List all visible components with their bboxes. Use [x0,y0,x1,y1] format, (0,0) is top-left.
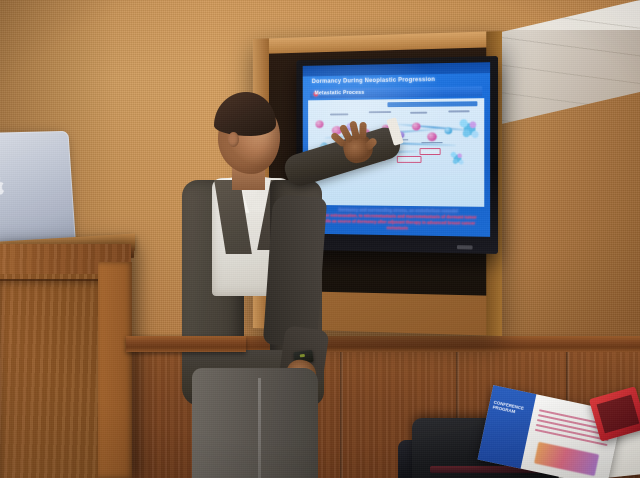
tv-brand-logo [457,245,473,249]
diagram-cell-cluster [456,116,483,143]
diagram-cell [427,132,437,141]
diagram-mini-label [410,112,427,114]
hair [214,92,276,136]
apple-logo-icon [0,176,8,197]
finger [359,122,367,139]
chair-rail-left [126,336,246,352]
diagram-label-box [397,156,422,163]
slide-footer-line-3: cells as source of dormancy after adjuva… [315,218,482,232]
podium-front-panel [0,274,107,478]
slide-footer-text: Dormancy and surrounding stroma, an endo… [315,207,482,233]
upper-arm [263,194,327,347]
diagram-header-bar [387,101,476,107]
diagram-mini-label [448,110,469,112]
diagram-cell [412,123,421,131]
trouser-crease [258,378,261,478]
diagram-cell-cluster [448,150,466,168]
podium-side-stile [98,262,132,478]
diagram-cell [444,127,452,134]
ear [228,132,239,147]
slide-title: Dormancy During Neoplastic Progression [312,75,483,85]
trousers [192,368,318,478]
brochure-image [534,442,599,476]
diagram-mini-label [369,111,391,113]
macbook-laptop[interactable] [0,131,76,250]
diagram-arrow [421,142,442,143]
photo-scene: Dormancy During Neoplastic Progression M… [0,0,640,478]
wainscot-seam [340,352,343,478]
brochure-band-text: CONFERENCE PROGRAM [492,400,528,418]
speaker [186,92,336,478]
red-folder-inner [597,395,640,434]
remote-button-icon [300,354,305,358]
diagram-label-box [420,148,441,155]
